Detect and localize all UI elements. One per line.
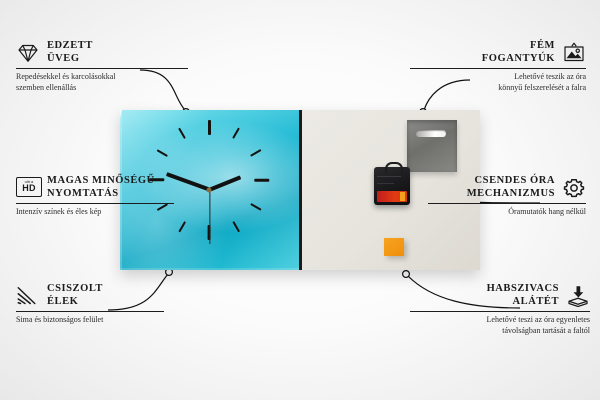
- quiet-clock-mechanism: [374, 167, 410, 205]
- callout-title-line1: MAGAS MINŐSÉGŰ: [47, 175, 155, 188]
- callout-desc-line1: Sima és biztonságos felület: [16, 315, 164, 326]
- battery: [377, 191, 407, 202]
- callout-rule: [410, 311, 590, 312]
- callout-rule: [16, 203, 174, 204]
- mechanism-hook: [385, 162, 403, 173]
- callout-desc-line2: könnyű felszerelését a falra: [410, 83, 586, 94]
- callout-title-line1: CSISZOLT: [47, 283, 103, 296]
- callout-header: CSISZOLT ÉLEK: [16, 283, 164, 308]
- callout-csiszolt-elek[interactable]: CSISZOLT ÉLEK Sima és biztonságos felüle…: [16, 283, 164, 326]
- callout-title-line1: HABSZIVACS: [487, 283, 559, 296]
- callout-desc-line1: Óramutatók hang nélkül: [428, 207, 586, 218]
- callout-desc-line2: szemben ellenállás: [16, 83, 188, 94]
- clock-tick: [254, 179, 269, 182]
- foam-spacer-pad: [384, 238, 404, 256]
- callout-csendes-ora-mechanizmus[interactable]: CSENDES ÓRA MECHANIZMUS Óramutatók hang …: [428, 175, 586, 218]
- polished-edges-icon: [16, 285, 40, 307]
- callout-header: CSENDES ÓRA MECHANIZMUS: [428, 175, 586, 200]
- callout-header: HABSZIVACS ALÁTÉT: [410, 283, 590, 308]
- callout-header: ultra HD MAGAS MINŐSÉGŰ NYOMTATÁS: [16, 175, 174, 200]
- gear-icon: [562, 177, 586, 199]
- callout-rule: [428, 203, 586, 204]
- diamond-icon: [16, 42, 40, 64]
- clock-center-pin: [207, 188, 212, 193]
- callout-rule: [16, 311, 164, 312]
- callout-rule: [16, 68, 188, 69]
- mechanism-detail-2: [377, 183, 394, 184]
- callout-rule: [410, 68, 586, 69]
- callout-title-line1: CSENDES ÓRA: [467, 175, 555, 188]
- callout-title-line1: EDZETT: [47, 40, 93, 53]
- callout-header: FÉM FOGANTYÚK: [410, 40, 586, 65]
- callout-edzett-uveg[interactable]: EDZETT ÜVEG Repedésekkel és karcolásokka…: [16, 40, 188, 93]
- ultra-hd-bottom-label: HD: [22, 184, 36, 193]
- clock-tick: [208, 120, 211, 135]
- callout-title-line2: ÉLEK: [47, 296, 103, 309]
- picture-hanger-icon: [562, 42, 586, 64]
- hanger-slot: [416, 130, 446, 137]
- callout-title-line2: ALÁTÉT: [487, 296, 559, 309]
- callout-desc-line2: távolságban tartását a faltól: [410, 326, 590, 337]
- callout-title-line1: FÉM: [482, 40, 555, 53]
- product-image: [120, 110, 480, 270]
- metal-hanger-plate: [407, 120, 457, 172]
- callout-desc-line1: Lehetővé teszik az óra: [410, 72, 586, 83]
- foam-pad-icon: [566, 285, 590, 307]
- callout-title-line2: NYOMTATÁS: [47, 188, 155, 201]
- callout-desc-line1: Repedésekkel és karcolásokkal: [16, 72, 188, 83]
- callout-fem-fogantyuk[interactable]: FÉM FOGANTYÚK Lehetővé teszik az óra kön…: [410, 40, 586, 93]
- callout-desc-line1: Lehetővé teszi az óra egyenletes: [410, 315, 590, 326]
- callout-title-line2: ÜVEG: [47, 53, 93, 66]
- callout-magas-minosegu-nyomtatas[interactable]: ultra HD MAGAS MINŐSÉGŰ NYOMTATÁS Intenz…: [16, 175, 174, 218]
- callout-habszivacs-alatet[interactable]: HABSZIVACS ALÁTÉT Lehetővé teszi az óra …: [410, 283, 590, 336]
- ultra-hd-icon: ultra HD: [16, 177, 40, 199]
- callout-title-line2: MECHANIZMUS: [467, 188, 555, 201]
- second-hand: [209, 190, 210, 244]
- leader-dot-6: [403, 271, 410, 278]
- callout-title-line2: FOGANTYÚK: [482, 53, 555, 66]
- callout-desc-line1: Intenzív színek és éles kép: [16, 207, 174, 218]
- callout-header: EDZETT ÜVEG: [16, 40, 188, 65]
- infographic-canvas: EDZETT ÜVEG Repedésekkel és karcolásokka…: [0, 0, 600, 400]
- mechanism-detail: [377, 176, 401, 177]
